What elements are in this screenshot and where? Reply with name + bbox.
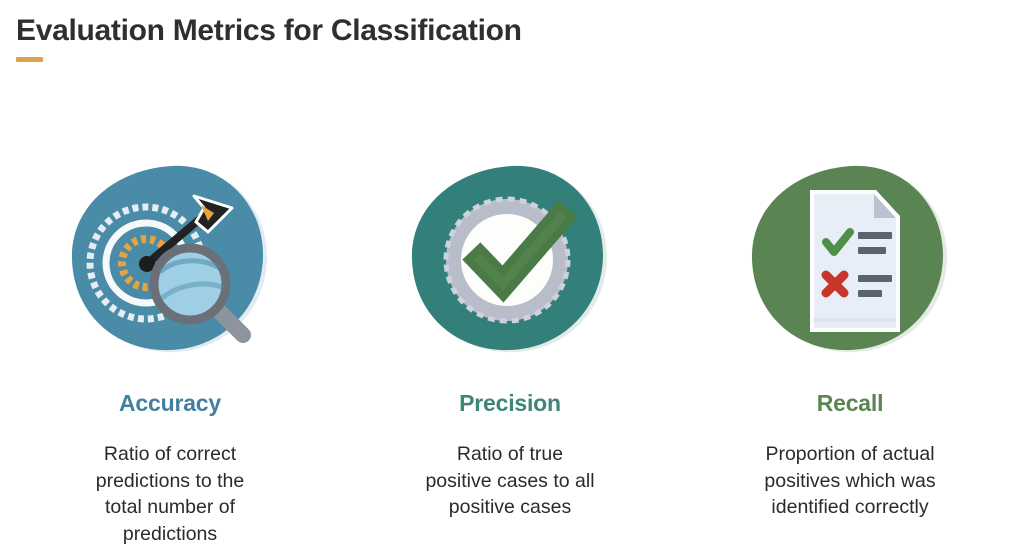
metrics-row: Accuracy Ratio of correct predictions to…	[0, 160, 1020, 547]
metric-title-precision: Precision	[459, 392, 561, 415]
check-circle-icon	[408, 160, 613, 360]
title-accent-bar	[16, 57, 43, 62]
metric-description-recall: Proportion of actual positives which was…	[725, 441, 975, 521]
metric-card-precision: Precision Ratio of true positive cases t…	[340, 160, 680, 521]
checklist-document-icon	[748, 160, 953, 360]
metric-title-recall: Recall	[817, 392, 884, 415]
metric-card-recall: Recall Proportion of actual positives wh…	[680, 160, 1020, 521]
target-arrow-magnifier-icon	[68, 160, 273, 360]
metric-description-precision: Ratio of true positive cases to all posi…	[385, 441, 635, 521]
metric-title-accuracy: Accuracy	[119, 392, 221, 415]
page-title: Evaluation Metrics for Classification	[16, 14, 522, 48]
metric-card-accuracy: Accuracy Ratio of correct predictions to…	[0, 160, 340, 547]
metric-description-accuracy: Ratio of correct predictions to the tota…	[45, 441, 295, 547]
